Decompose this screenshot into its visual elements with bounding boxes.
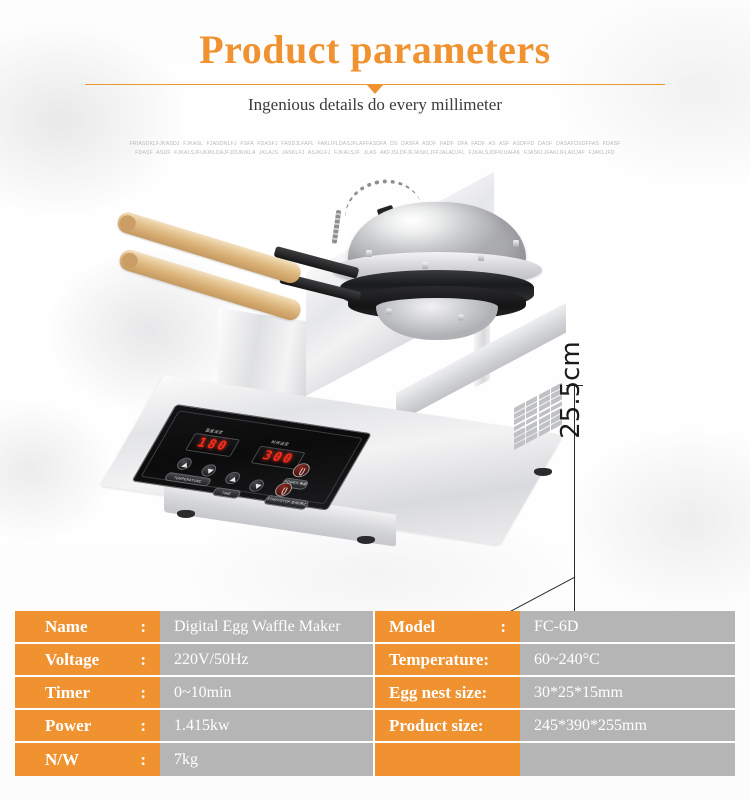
rubber-foot (177, 510, 195, 518)
bolt (478, 254, 484, 261)
spec-label-colon: : (134, 650, 146, 670)
page-subtitle: Ingenious details do every millimeter (0, 95, 750, 115)
bolt (366, 250, 372, 257)
table-row: N/W : 7kg (15, 743, 735, 776)
page-title: Product parameters (0, 26, 750, 73)
spec-value-cell: 220V/50Hz (160, 644, 375, 677)
spec-label-text: Egg nest size: (389, 683, 487, 703)
bolt (422, 262, 428, 269)
bolt (458, 315, 463, 321)
spec-label-text: Temperature: (389, 650, 489, 670)
header-section: Product parameters Ingenious details do … (0, 0, 750, 180)
bolt (513, 240, 519, 247)
product-parameters-page: Product parameters Ingenious details do … (0, 0, 750, 800)
time-cn-label: 时间设定 (270, 439, 291, 447)
spec-value-cell: 7kg (160, 743, 375, 776)
spec-label-cell: Model : (375, 611, 520, 644)
spec-value-cell: FC-6D (520, 611, 735, 644)
divider-arrow-icon (367, 85, 383, 94)
spec-label-cell: Power : (15, 710, 160, 743)
table-row: Timer : 0~10min Egg nest size: 30*25*15m… (15, 677, 735, 710)
specification-table-body: Name : Digital Egg Waffle Maker Model : … (15, 611, 735, 776)
spec-value-cell: 0~10min (160, 677, 375, 710)
lower-bowl (376, 298, 498, 340)
table-row: Name : Digital Egg Waffle Maker Model : … (15, 611, 735, 644)
spec-label-text: N/W (45, 750, 79, 770)
table-row: Power : 1.415kw Product size: 245*390*25… (15, 710, 735, 743)
spec-label-colon: : (494, 617, 506, 637)
time-down-button[interactable] (247, 479, 267, 493)
filler-placeholder-text: FRIASDKLFJKASDJ FJKASL FJASDNLFJ FSFA FD… (125, 140, 625, 157)
spec-value-cell-empty (520, 743, 735, 776)
handle-end-cap (118, 213, 138, 232)
spec-value-cell: 60~240°C (520, 644, 735, 677)
spec-label-text: Timer (45, 683, 90, 703)
spec-label-cell-empty (375, 743, 520, 776)
spec-label-cell: Name : (15, 611, 160, 644)
spec-value-cell: 1.415kw (160, 710, 375, 743)
height-dimension-label: 25.5cm (556, 320, 586, 460)
spec-label-cell: Timer : (15, 677, 160, 710)
handle-end-cap (120, 251, 140, 270)
spec-value-cell: 245*390*255mm (520, 710, 735, 743)
start-stop-button[interactable] (272, 482, 295, 498)
bolt (386, 309, 391, 315)
spec-label-colon: : (134, 716, 146, 736)
temperature-down-button[interactable] (199, 463, 219, 477)
spec-label-text: Power (45, 716, 91, 736)
rubber-foot (357, 536, 375, 544)
spec-label-text: Voltage (45, 650, 99, 670)
spec-label-text: Model (389, 617, 435, 637)
spec-label-cell: Voltage : (15, 644, 160, 677)
temperature-display: 180 (185, 433, 240, 457)
spec-label-cell: Product size: (375, 710, 520, 743)
spec-label-colon: : (134, 750, 146, 770)
spec-label-colon: : (134, 617, 146, 637)
spec-label-cell: Egg nest size: (375, 677, 520, 710)
spec-value-cell: 30*25*15mm (520, 677, 735, 710)
table-row: Voltage : 220V/50Hz Temperature: 60~240°… (15, 644, 735, 677)
product-photo: 温度设定 时间设定 180 300 TEMPERATURE TIME POWER… (0, 180, 750, 590)
spec-label-cell: N/W : (15, 743, 160, 776)
specification-table: Name : Digital Egg Waffle Maker Model : … (15, 611, 735, 776)
spec-label-text: Name (45, 617, 87, 637)
spec-value-cell: Digital Egg Waffle Maker (160, 611, 375, 644)
time-up-button[interactable] (223, 471, 243, 485)
rubber-foot (534, 468, 552, 476)
spec-label-colon: : (134, 683, 146, 703)
temperature-up-button[interactable] (174, 457, 194, 471)
spec-label-text: Product size: (389, 716, 484, 736)
spec-label-cell: Temperature: (375, 644, 520, 677)
